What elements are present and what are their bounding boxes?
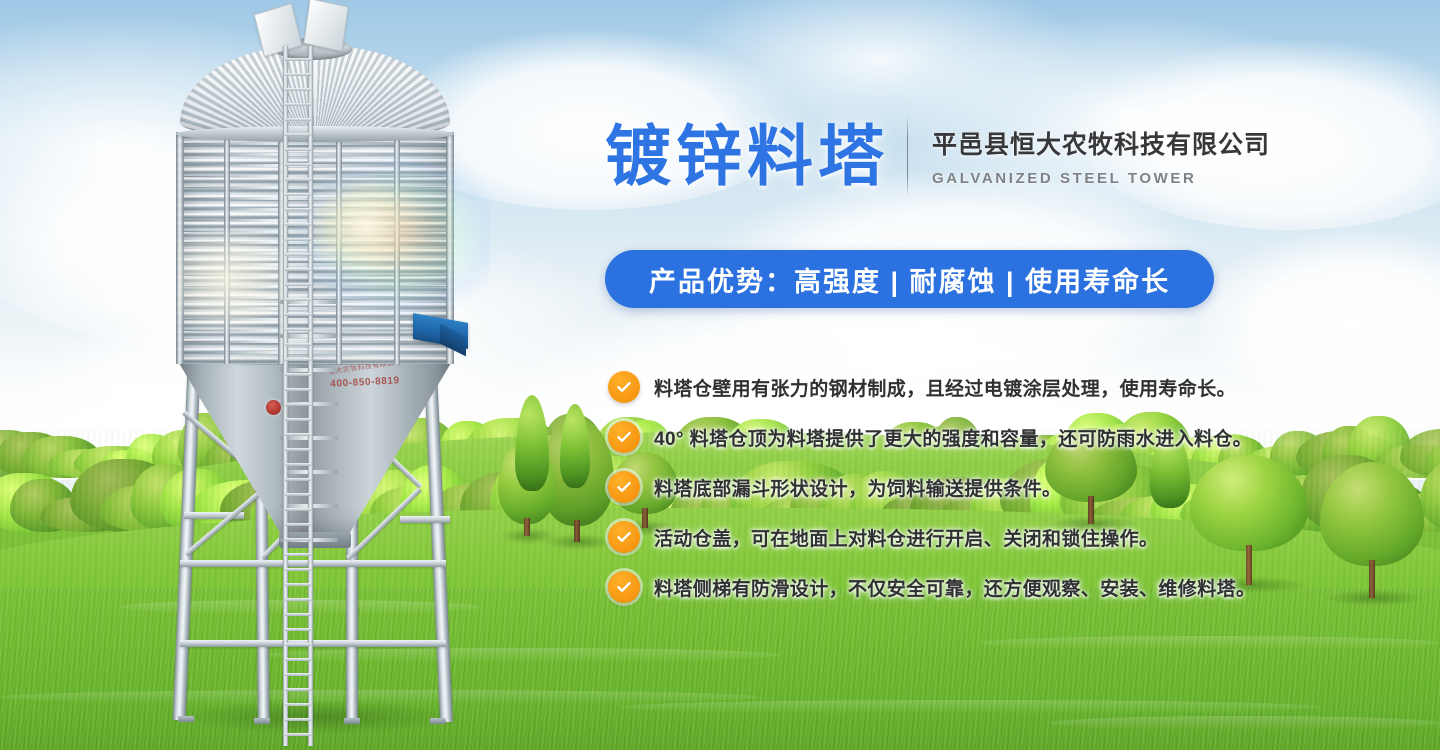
tree — [1320, 462, 1424, 598]
roof-hatch-lid — [303, 0, 349, 52]
ladder-rung — [285, 583, 311, 586]
hero-text-panel: 镀锌料塔 平邑县恒大农牧科技有限公司 GALVANIZED STEEL TOWE… — [605, 0, 1305, 750]
ladder-rung — [285, 133, 311, 136]
check-circle-icon — [608, 471, 640, 503]
ladder-rung — [285, 493, 311, 496]
roof-eave-ring — [176, 126, 454, 142]
silo-seam-ring — [176, 208, 454, 211]
ladder-rung — [285, 613, 311, 616]
ladder-rung — [285, 523, 311, 526]
ladder-rung — [285, 433, 311, 436]
ladder-rung — [285, 658, 311, 661]
silo-seam-ring — [176, 285, 454, 288]
discharge-valve-icon — [266, 400, 281, 415]
ladder-rung — [285, 703, 311, 706]
tree-trunk — [1369, 560, 1375, 598]
feature-list: 料塔仓壁用有张力的钢材制成，且经过电镀涂层处理，使用寿命长。40° 料塔仓顶为料… — [608, 362, 1308, 612]
ladder-rung — [285, 298, 311, 301]
feature-text: 料塔仓壁用有张力的钢材制成，且经过电镀涂层处理，使用寿命长。 — [654, 374, 1236, 401]
ladder-rung — [285, 418, 311, 421]
ladder-rung — [285, 718, 311, 721]
ladder-rung — [285, 148, 311, 151]
silo-seam-ring — [176, 175, 454, 178]
ladder-rung — [285, 313, 311, 316]
ladder-rail — [283, 46, 288, 746]
silo-seam-ring — [176, 186, 454, 189]
ladder-rung — [285, 103, 311, 106]
ladder-rung — [285, 538, 311, 541]
silo-seam-ring — [176, 197, 454, 200]
ladder-rung — [285, 688, 311, 691]
ladder-rung — [285, 508, 311, 511]
ladder-rung — [285, 328, 311, 331]
company-name-cn: 平邑县恒大农牧科技有限公司 — [932, 125, 1270, 161]
ladder-rung — [285, 463, 311, 466]
page-title: 镀锌料塔 — [605, 123, 889, 189]
side-ladder — [283, 46, 313, 746]
product-hero-banner: 恒大农牧科技有限公司 400-850-8819 镀锌料塔 — [0, 0, 1440, 750]
silo-seam-ring — [176, 274, 454, 277]
ladder-rung — [285, 643, 311, 646]
silo-seam-ring — [176, 252, 454, 255]
feature-text: 40° 料塔仓顶为料塔提供了更大的强度和容量，还可防雨水进入料仓。 — [654, 424, 1252, 451]
ladder-rung — [285, 163, 311, 166]
list-item: 料塔底部漏斗形状设计，为饲料输送提供条件。 — [608, 462, 1308, 512]
feature-text: 料塔底部漏斗形状设计，为饲料输送提供条件。 — [654, 474, 1061, 501]
check-circle-icon — [608, 421, 640, 453]
ladder-rung — [285, 88, 311, 91]
silo-seam-ring — [176, 296, 454, 299]
ladder-rung — [285, 673, 311, 676]
horizontal-girt — [180, 640, 446, 647]
headline-divider — [907, 118, 908, 194]
feature-text: 活动仓盖，可在地面上对料仓进行开启、关闭和锁住操作。 — [654, 524, 1158, 551]
tree-trunk — [524, 518, 530, 536]
ladder-rung — [285, 553, 311, 556]
ladder-rung — [285, 373, 311, 376]
silo-seam-ring — [176, 153, 454, 156]
silo-stiffener-post — [394, 132, 400, 364]
headline-row: 镀锌料塔 平邑县恒大农牧科技有限公司 GALVANIZED STEEL TOWE… — [605, 118, 1270, 194]
feature-text: 料塔侧梯有防滑设计，不仅安全可靠，还方便观察、安装、维修料塔。 — [654, 574, 1255, 601]
ladder-rung — [285, 628, 311, 631]
list-item: 40° 料塔仓顶为料塔提供了更大的强度和容量，还可防雨水进入料仓。 — [608, 412, 1308, 462]
ladder-rung — [285, 253, 311, 256]
ladder-rung — [285, 598, 311, 601]
ladder-rung — [285, 208, 311, 211]
silo-seam-ring — [176, 142, 454, 145]
check-circle-icon — [608, 371, 640, 403]
silo-ground-shadow — [170, 700, 460, 734]
ladder-rung — [285, 478, 311, 481]
list-item: 料塔侧梯有防滑设计，不仅安全可靠，还方便观察、安装、维修料塔。 — [608, 562, 1308, 612]
ladder-rung — [285, 283, 311, 286]
ladder-rung — [285, 733, 311, 736]
ladder-rung — [285, 403, 311, 406]
ladder-rung — [285, 118, 311, 121]
ladder-rung — [285, 388, 311, 391]
ladder-rung — [285, 568, 311, 571]
check-circle-icon — [608, 571, 640, 603]
ladder-rung — [285, 358, 311, 361]
silo-seam-ring — [176, 241, 454, 244]
silo-stiffener-post — [224, 132, 230, 364]
silo-seam-ring — [176, 164, 454, 167]
company-name-en: GALVANIZED STEEL TOWER — [932, 170, 1270, 187]
advantage-badge: 产品优势：高强度 | 耐腐蚀 | 使用寿命长 — [605, 250, 1214, 308]
ladder-rung — [285, 343, 311, 346]
silo-seam-ring — [176, 263, 454, 266]
list-item: 料塔仓壁用有张力的钢材制成，且经过电镀涂层处理，使用寿命长。 — [608, 362, 1308, 412]
ladder-rung — [285, 268, 311, 271]
ladder-rung — [285, 193, 311, 196]
silo-seam-ring — [176, 230, 454, 233]
silo-seam-ring — [176, 219, 454, 222]
advantage-badge-label: 产品优势：高强度 | 耐腐蚀 | 使用寿命长 — [649, 260, 1170, 299]
leg-base-plate — [430, 718, 446, 724]
ladder-rung — [285, 238, 311, 241]
list-item: 活动仓盖，可在地面上对料仓进行开启、关闭和锁住操作。 — [608, 512, 1308, 562]
company-block: 平邑县恒大农牧科技有限公司 GALVANIZED STEEL TOWER — [932, 125, 1270, 187]
ladder-rung — [285, 448, 311, 451]
ladder-rail — [308, 46, 313, 746]
ladder-rung — [285, 73, 311, 76]
horizontal-girt — [400, 516, 450, 523]
leg-base-plate — [254, 718, 270, 724]
silo-stiffener-post — [176, 132, 184, 364]
ladder-rung — [285, 178, 311, 181]
leg-base-plate — [344, 718, 360, 724]
tree-trunk — [574, 520, 580, 542]
ladder-rung — [285, 223, 311, 226]
tree-crown — [1320, 462, 1424, 566]
check-circle-icon — [608, 521, 640, 553]
leg-base-plate — [178, 716, 194, 722]
support-leg — [424, 372, 453, 722]
galvanized-feed-silo: 恒大农牧科技有限公司 400-850-8819 — [150, 0, 510, 750]
ladder-rung — [285, 58, 311, 61]
